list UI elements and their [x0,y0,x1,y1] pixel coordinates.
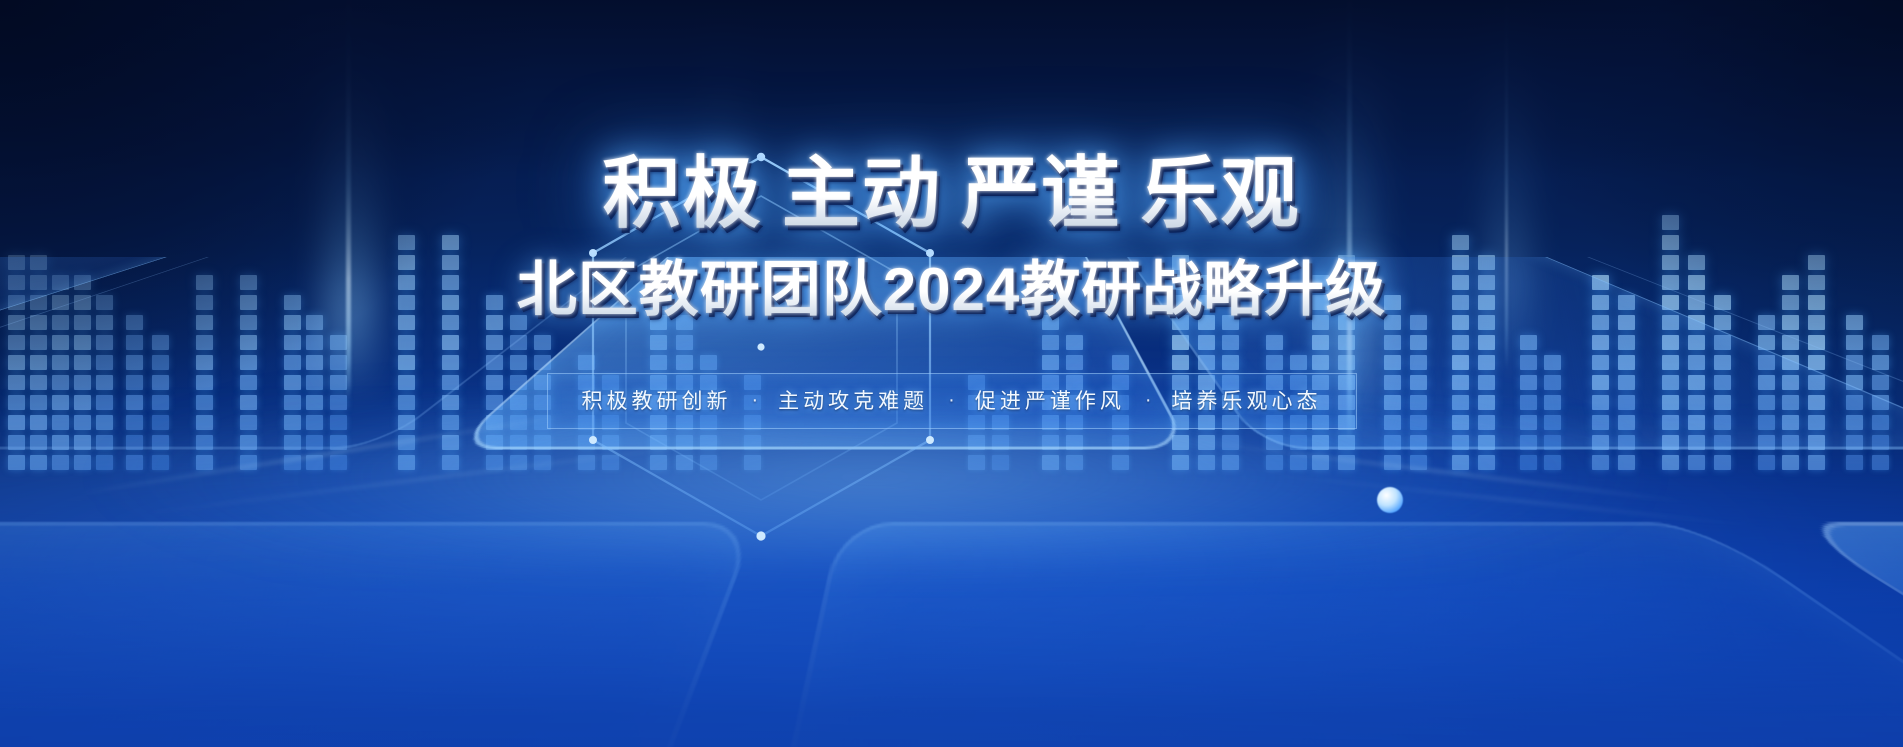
skyline-window [330,375,347,390]
skyline-window [1872,355,1889,370]
skyline-window [8,455,25,470]
skyline-window [1592,395,1609,410]
skyline-window [1290,455,1307,470]
skyline-window [1846,335,1863,350]
skyline-window [1452,335,1469,350]
skyline-window [1782,335,1799,350]
skyline-window [1410,355,1427,370]
skyline-window [1410,435,1427,450]
skyline-window [1312,335,1329,350]
skyline-window [1042,435,1059,450]
skyline-window [30,355,47,370]
skyline-window [306,335,323,350]
skyline-window [486,415,503,430]
skyline-window [152,415,169,430]
skyline-window [578,435,595,450]
skyline-window [1688,395,1705,410]
skyline-window [1384,335,1401,350]
skyline-window [196,415,213,430]
skyline-window [1198,435,1215,450]
skyline-window [1410,415,1427,430]
skyline-window [510,395,527,410]
floor-haze [0,437,1903,747]
skyline-window [1618,395,1635,410]
skyline-window [510,435,527,450]
skyline-window [152,455,169,470]
skyline-window [1452,395,1469,410]
skyline-window [1688,355,1705,370]
light-streak-1 [63,410,597,497]
skyline-window [1618,435,1635,450]
skyline-window [1618,355,1635,370]
skyline-window [442,415,459,430]
skyline-window [442,375,459,390]
skyline-window [1410,395,1427,410]
skyline-window [1846,375,1863,390]
skyline-window [1544,435,1561,450]
headline-part-1: 积极 [602,149,762,237]
skyline-window [1452,355,1469,370]
skyline-window [240,375,257,390]
skyline-window [1478,375,1495,390]
skyline-window [1198,355,1215,370]
skyline-window [1714,335,1731,350]
skyline-window [1662,415,1679,430]
skyline-window [1312,435,1329,450]
skyline-window [676,355,693,370]
skyline-window [1808,415,1825,430]
skyline-window [1266,435,1283,450]
skyline-window [8,375,25,390]
tagline-separator-2: · [948,389,955,412]
skyline-window [1758,435,1775,450]
skyline-window [126,415,143,430]
skyline-window [30,375,47,390]
skyline-window [152,355,169,370]
skyline-window [1520,395,1537,410]
skyline-window [196,375,213,390]
skyline-window [700,435,717,450]
skyline-window [1478,455,1495,470]
skyline-window [1222,455,1239,470]
skyline-window [74,415,91,430]
skyline-window [1066,435,1083,450]
skyline-window [1618,335,1635,350]
skyline-window [968,455,985,470]
skyline-window [1872,395,1889,410]
headline-part-4: 乐观 [1141,149,1301,237]
skyline-window [992,455,1009,470]
skyline-window [1042,455,1059,470]
skyline-window [74,395,91,410]
skyline-window [1758,335,1775,350]
skyline-window [1714,375,1731,390]
skyline-window [126,435,143,450]
skyline-window [1520,375,1537,390]
skyline-window [534,435,551,450]
skyline-window [1222,355,1239,370]
skyline-window [398,435,415,450]
skyline-window [1338,455,1355,470]
skyline-window [1066,335,1083,350]
skyline-window [1872,435,1889,450]
skyline-window [1872,455,1889,470]
skyline-window [700,355,717,370]
tagline-item-1: 积极教研创新 [581,385,731,415]
skyline-window [126,375,143,390]
skyline-window [1782,395,1799,410]
skyline-window [1478,435,1495,450]
skyline-window [1478,395,1495,410]
skyline-window [1808,435,1825,450]
skyline-window [1618,455,1635,470]
skyline-window [1198,335,1215,350]
skyline-window [306,435,323,450]
skyline-window [306,415,323,430]
skyline-window [1618,415,1635,430]
skyline-window [1782,435,1799,450]
skyline-window [1872,375,1889,390]
skyline-window [126,455,143,470]
skyline-window [1266,455,1283,470]
light-streak-2 [132,438,748,516]
skyline-window [442,435,459,450]
skyline-window [1758,375,1775,390]
skyline-window [1384,395,1401,410]
skyline-window [1592,455,1609,470]
skyline-window [126,395,143,410]
skyline-window [1592,435,1609,450]
skyline-window [96,415,113,430]
skyline-window [1544,415,1561,430]
skyline-window [96,435,113,450]
skyline-window [1758,415,1775,430]
skyline-window [398,375,415,390]
skyline-window [284,435,301,450]
skyline-window [1384,415,1401,430]
skyline-window [1172,335,1189,350]
skyline-window [442,355,459,370]
skyline-window [676,455,693,470]
tagline-item-2: 主动攻克难题 [778,385,928,415]
skyline-window [1592,375,1609,390]
skyline-window [240,335,257,350]
skyline-window [52,435,69,450]
skyline-window [30,435,47,450]
skyline-window [968,435,985,450]
skyline-window [8,355,25,370]
skyline-window [284,395,301,410]
skyline-window [52,395,69,410]
skyline-window [650,335,667,350]
skyline-window [30,335,47,350]
skyline-window [1808,335,1825,350]
skyline-window [1758,355,1775,370]
skyline-window [1592,335,1609,350]
skyline-window [1520,355,1537,370]
skyline-window [1384,435,1401,450]
skyline-window [96,375,113,390]
skyline-window [1618,375,1635,390]
skyline-window [1198,455,1215,470]
skyline-window [398,455,415,470]
skyline-window [1688,335,1705,350]
skyline-window [1544,455,1561,470]
skyline-window [330,395,347,410]
skyline-window [330,435,347,450]
skyline-window [1222,435,1239,450]
tagline-bar: 积极教研创新 · 主动攻克难题 · 促进严谨作风 · 培养乐观心态 [546,373,1356,429]
skyline-window [510,335,527,350]
skyline-window [1662,435,1679,450]
skyline-window [1452,435,1469,450]
skyline-window [534,335,551,350]
light-streak-3 [1182,438,1698,504]
skyline-window [74,335,91,350]
skyline-window [330,335,347,350]
skyline-window [1714,415,1731,430]
skyline-window [1478,355,1495,370]
skyline-window [1410,375,1427,390]
skyline-window [52,355,69,370]
skyline-window [306,355,323,370]
skyline-window [8,395,25,410]
skyline-window [1688,415,1705,430]
skyline-window [1478,335,1495,350]
skyline-window [1290,355,1307,370]
skyline-window [1520,335,1537,350]
skyline-window [1544,395,1561,410]
skyline-window [96,355,113,370]
skyline-window [1544,355,1561,370]
skyline-window [442,455,459,470]
skyline-window [284,355,301,370]
skyline-window [1688,435,1705,450]
skyline-window [534,355,551,370]
skyline-window [8,435,25,450]
skyline-window [486,375,503,390]
skyline-window [96,395,113,410]
skyline-window [52,375,69,390]
skyline-window [74,355,91,370]
skyline-window [486,355,503,370]
skyline-window [1410,335,1427,350]
skyline-window [8,335,25,350]
skyline-window [1478,415,1495,430]
skyline-window [240,455,257,470]
skyline-window [1066,355,1083,370]
banner-stage: 积极·主动·严谨·乐观 北区教研团队2024教研战略升级 积极教研创新 · 主动… [0,0,1903,747]
skyline-window [330,455,347,470]
skyline-window [602,435,619,450]
skyline-window [1172,355,1189,370]
skyline-window [306,395,323,410]
glow-orb [1377,487,1403,513]
skyline-window [1714,355,1731,370]
skyline-window [52,335,69,350]
skyline-window [602,455,619,470]
skyline-window [398,335,415,350]
skyline-window [744,435,761,450]
skyline-window [196,355,213,370]
skyline-window [442,395,459,410]
skyline-window [30,455,47,470]
skyline-window [1338,435,1355,450]
skyline-window [1872,415,1889,430]
light-streak-4 [1261,473,1778,529]
page-subtitle: 北区教研团队2024教研战略升级 [517,241,1386,328]
skyline-window [1846,415,1863,430]
skyline-window [196,335,213,350]
skyline-window [152,435,169,450]
skyline-window [1592,355,1609,370]
skyline-window [1808,355,1825,370]
skyline-window [1112,355,1129,370]
skyline-window [1846,395,1863,410]
skyline-window [152,335,169,350]
skyline-window [1384,355,1401,370]
skyline-window [398,355,415,370]
skyline-window [330,415,347,430]
tagline-separator-3: · [1145,389,1152,412]
skyline-window [510,455,527,470]
skyline-window [1452,455,1469,470]
skyline-window [240,415,257,430]
skyline-window [510,415,527,430]
skyline-window [74,375,91,390]
skyline-window [1846,355,1863,370]
skyline-window [240,395,257,410]
skyline-window [1222,335,1239,350]
skyline-window [1042,335,1059,350]
skyline-window [1042,355,1059,370]
skyline-window [1782,455,1799,470]
headline-separator-1: · [764,172,779,214]
skyline-window [152,375,169,390]
skyline-window [1312,455,1329,470]
skyline-window [126,335,143,350]
skyline-window [486,395,503,410]
skyline-window [240,355,257,370]
skyline-window [486,455,503,470]
skyline-window [284,335,301,350]
skyline-window [196,435,213,450]
floor-fade [0,447,1903,747]
skyline-window [74,455,91,470]
skyline-window [1808,395,1825,410]
skyline-window [1714,455,1731,470]
skyline-window [1338,335,1355,350]
skyline-window [1452,415,1469,430]
skyline-window [284,415,301,430]
skyline-window [196,455,213,470]
skyline-window [152,395,169,410]
skyline-window [398,415,415,430]
skyline-window [1662,375,1679,390]
skyline-window [1066,455,1083,470]
skyline-window [1758,395,1775,410]
skyline-window [1846,435,1863,450]
skyline-window [1520,455,1537,470]
skyline-window [1112,435,1129,450]
headline-part-2: 主动 [782,149,942,237]
skyline-window [1266,355,1283,370]
skyline-window [1266,335,1283,350]
skyline-window [1782,355,1799,370]
headline-separator-2: · [944,172,959,214]
skyline-window [1112,455,1129,470]
skyline-window [650,455,667,470]
skyline-window [306,375,323,390]
skyline-window [96,455,113,470]
tagline-item-4: 培养乐观心态 [1172,385,1322,415]
skyline-window [30,395,47,410]
skyline-window [700,455,717,470]
skyline-window [578,455,595,470]
skyline-window [240,435,257,450]
skyline-window [486,335,503,350]
skyline-window [1872,335,1889,350]
skyline-window [126,355,143,370]
skyline-window [1384,455,1401,470]
skyline-window [1662,395,1679,410]
skyline-window [676,435,693,450]
skyline-window [510,375,527,390]
skyline-window [284,375,301,390]
tagline-separator-1: · [751,389,758,412]
skyline-window [1384,375,1401,390]
skyline-window [1782,415,1799,430]
skyline-window [8,415,25,430]
skyline-window [486,435,503,450]
skyline-window [1808,455,1825,470]
skyline-window [1312,355,1329,370]
skyline-window [1290,435,1307,450]
perspective-tile-floor [0,257,1903,747]
skyline-window [442,335,459,350]
skyline-window [1714,435,1731,450]
skyline-window [1782,375,1799,390]
skyline-window [1808,375,1825,390]
skyline-window [196,395,213,410]
skyline-window [1662,455,1679,470]
skyline-window [306,455,323,470]
skyline-window [578,355,595,370]
skyline-window [1520,415,1537,430]
skyline-window [744,455,761,470]
skyline-window [1758,455,1775,470]
skyline-window [1410,455,1427,470]
skyline-window [650,355,667,370]
skyline-window [74,435,91,450]
headline-block: 积极·主动·严谨·乐观 北区教研团队2024教研战略升级 [0,152,1903,328]
skyline-window [52,455,69,470]
skyline-window [650,435,667,450]
page-title: 积极·主动·严谨·乐观 [602,152,1300,235]
skyline-window [1520,435,1537,450]
skyline-window [1662,355,1679,370]
skyline-window [992,435,1009,450]
skyline-window [398,395,415,410]
skyline-window [1714,395,1731,410]
skyline-window [534,455,551,470]
skyline-window [676,335,693,350]
skyline-window [330,355,347,370]
skyline-window [96,335,113,350]
skyline-window [1688,455,1705,470]
skyline-window [30,415,47,430]
skyline-window [1846,455,1863,470]
